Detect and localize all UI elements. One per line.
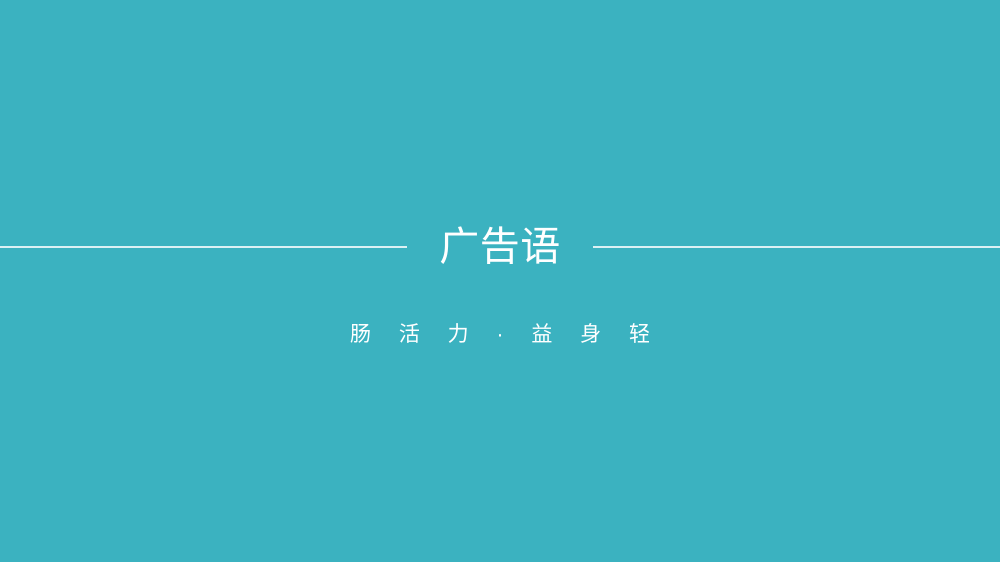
divider-line-right [593, 246, 1000, 248]
divider-line-left [0, 246, 407, 248]
slide-canvas: 广告语 肠 活 力 · 益 身 轻 [0, 0, 1000, 562]
slide-subtitle: 肠 活 力 · 益 身 轻 [0, 322, 1000, 347]
page-title: 广告语 [439, 227, 561, 267]
title-divider-band: 广告语 [0, 0, 1000, 528]
